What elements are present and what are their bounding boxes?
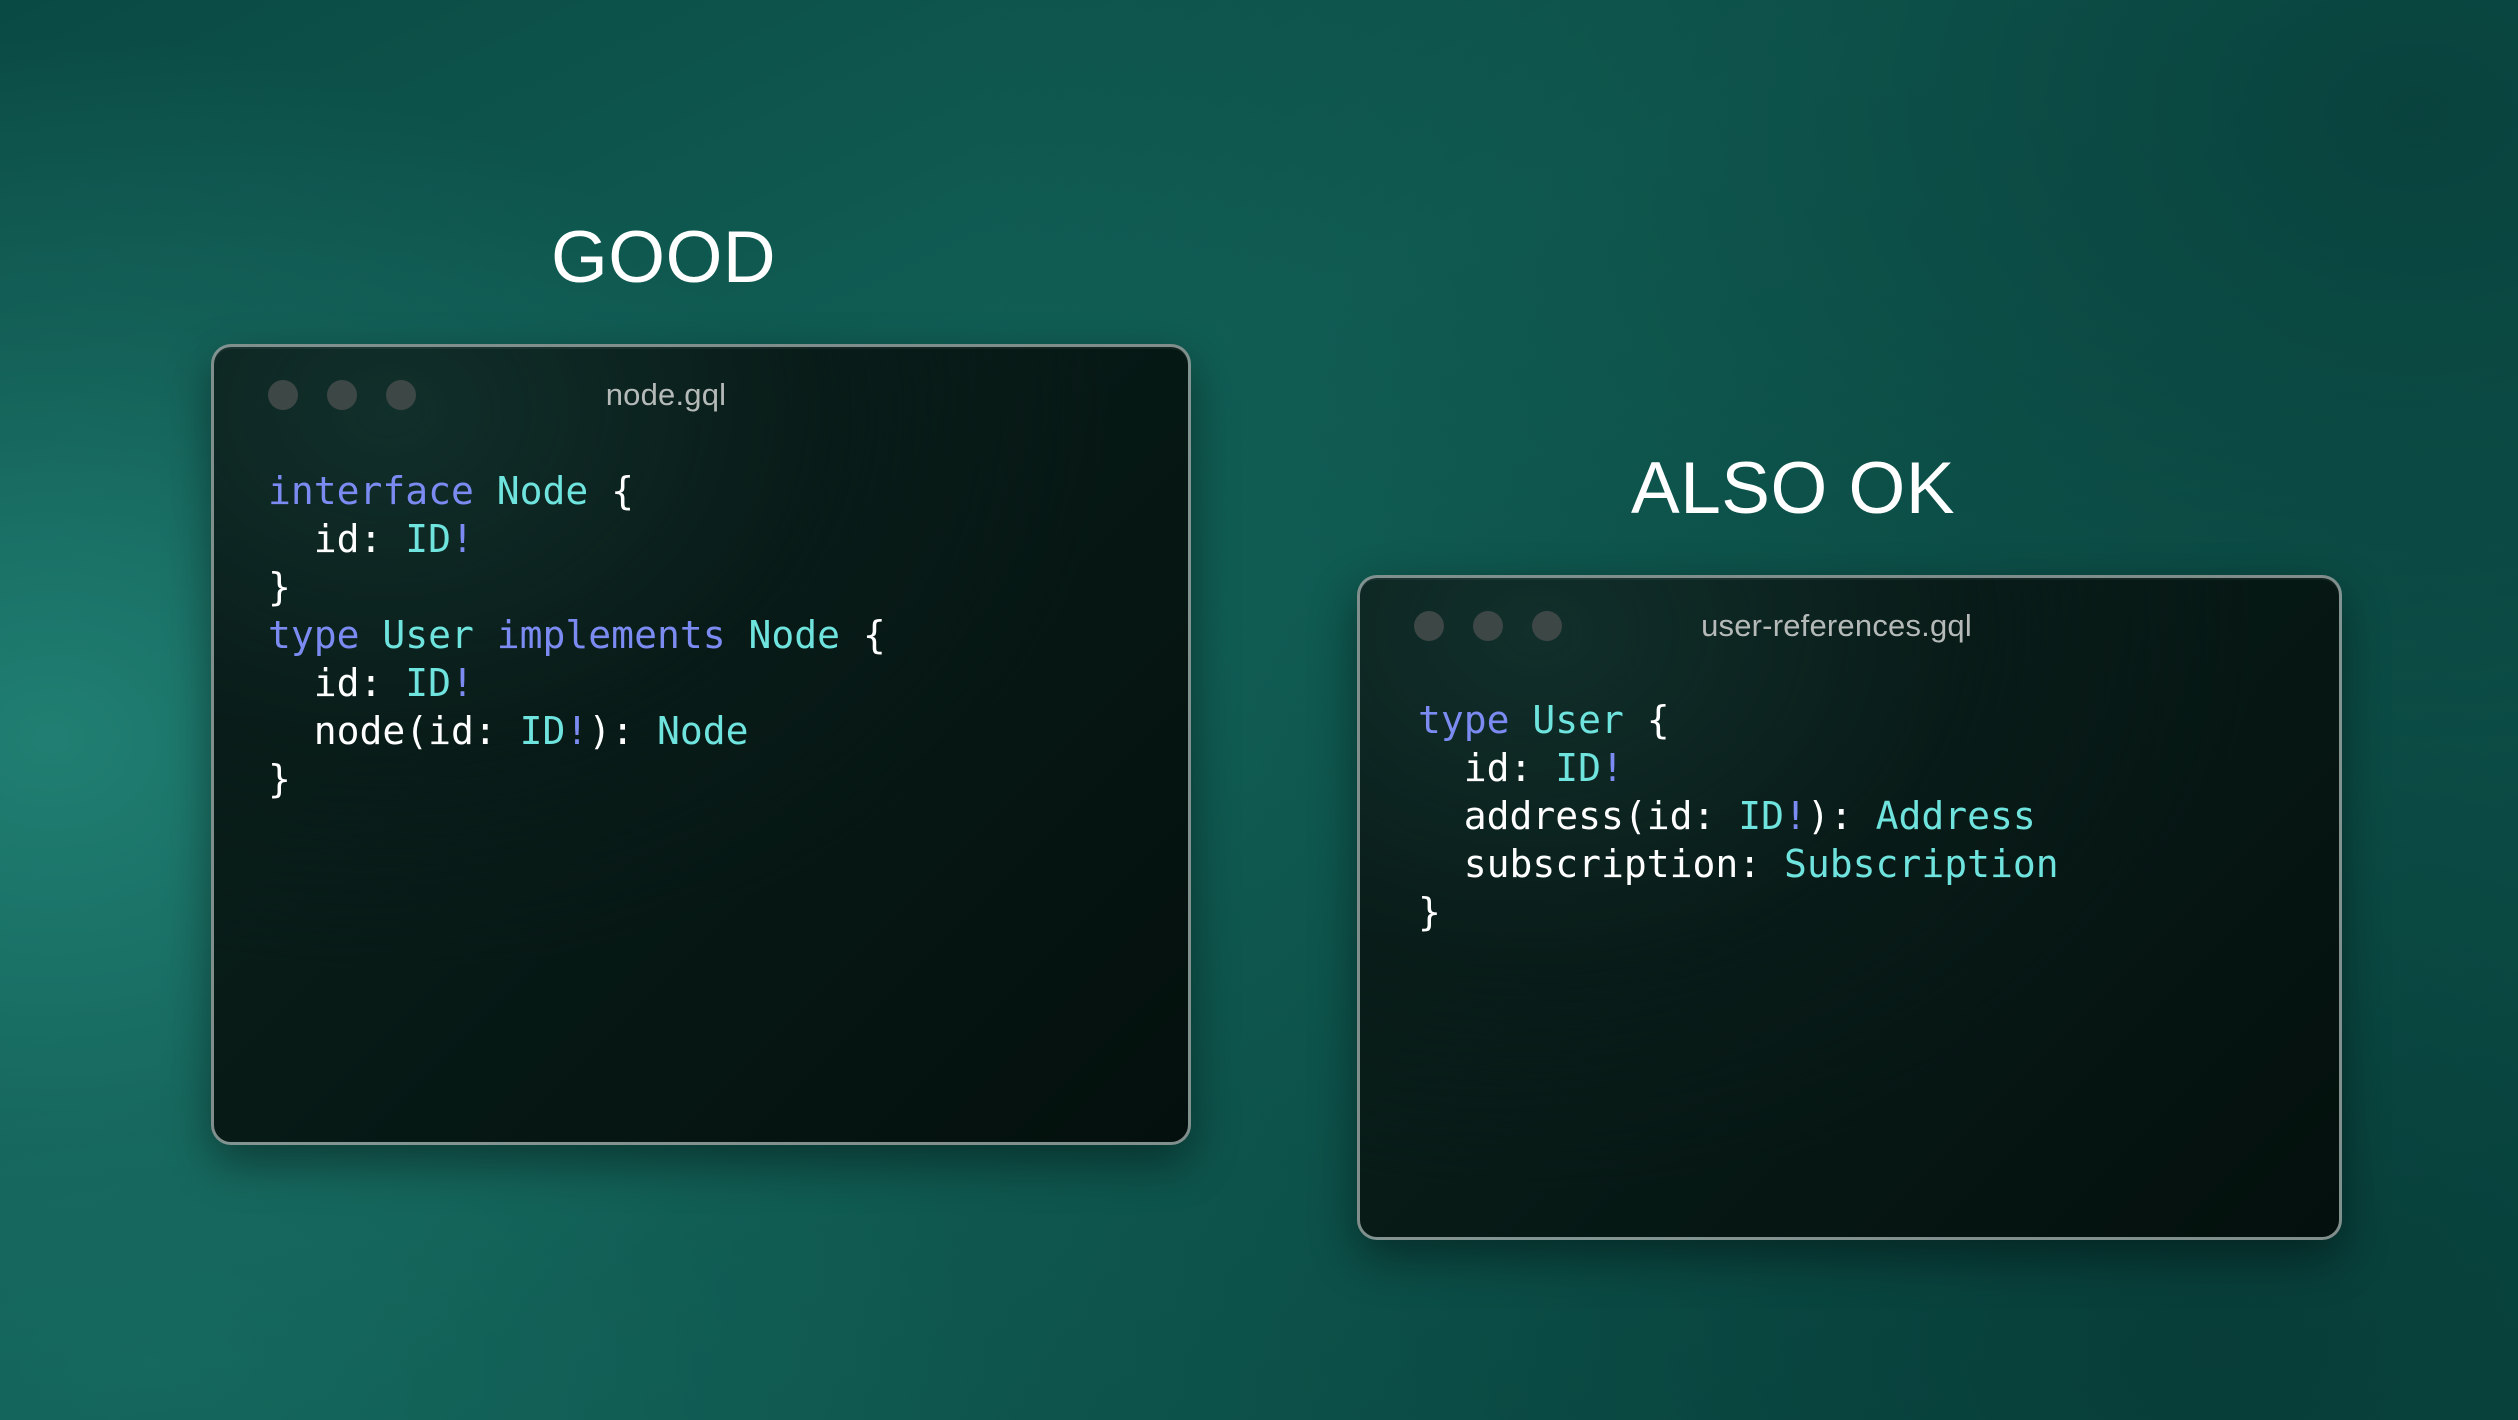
code-token: ID — [405, 517, 451, 561]
code-line: } — [268, 563, 1188, 611]
code-token: Node — [657, 709, 749, 753]
code-line: interface Node { — [268, 467, 1188, 515]
code-token: ): — [1807, 794, 1876, 838]
screenshot-canvas: GOOD ALSO OK node.gql interface Node { i… — [0, 0, 2518, 1420]
code-token: } — [268, 757, 291, 801]
code-token: ID — [520, 709, 566, 753]
caption-also-ok: ALSO OK — [1631, 452, 1955, 525]
code-token: User — [1532, 698, 1624, 742]
code-token: subscription: — [1418, 842, 1784, 886]
code-token: { — [1624, 698, 1670, 742]
code-token: { — [840, 613, 886, 657]
code-token: ID — [1738, 794, 1784, 838]
card-titlebar: user-references.gql — [1360, 578, 2339, 674]
close-dot-icon[interactable] — [268, 380, 298, 410]
caption-good: GOOD — [551, 221, 776, 294]
code-line: id: ID! — [1418, 744, 2339, 792]
code-token: ! — [1784, 794, 1807, 838]
code-line: type User implements Node { — [268, 611, 1188, 659]
code-token: ! — [451, 661, 474, 705]
window-controls — [1414, 611, 1562, 641]
code-token: ! — [451, 517, 474, 561]
code-line: } — [268, 755, 1188, 803]
code-block-good: interface Node { id: ID!}type User imple… — [214, 443, 1188, 803]
code-token: id: — [268, 517, 405, 561]
code-token — [474, 613, 497, 657]
code-line: subscription: Subscription — [1418, 840, 2339, 888]
code-token: type — [268, 613, 382, 657]
code-token: address(id: — [1418, 794, 1738, 838]
code-token: ! — [1601, 746, 1624, 790]
code-line: id: ID! — [268, 515, 1188, 563]
code-token: ! — [565, 709, 588, 753]
code-token: interface — [268, 469, 497, 513]
code-token: Node — [497, 469, 589, 513]
code-line: id: ID! — [268, 659, 1188, 707]
code-token: id: — [1418, 746, 1555, 790]
code-token: User — [382, 613, 474, 657]
code-line: address(id: ID!): Address — [1418, 792, 2339, 840]
code-token: ID — [405, 661, 451, 705]
code-block-also-ok: type User { id: ID! address(id: ID!): Ad… — [1360, 674, 2339, 936]
code-token: Node — [748, 613, 840, 657]
code-card-also-ok: user-references.gql type User { id: ID! … — [1357, 575, 2342, 1240]
code-token: type — [1418, 698, 1532, 742]
code-token: Subscription — [1784, 842, 2059, 886]
code-token: id: — [268, 661, 405, 705]
code-token: ): — [588, 709, 657, 753]
code-token: Address — [1876, 794, 2036, 838]
code-card-good: node.gql interface Node { id: ID!}type U… — [211, 344, 1191, 1145]
code-token: } — [1418, 890, 1441, 934]
code-token: implements — [497, 613, 749, 657]
window-controls — [268, 380, 416, 410]
minimize-dot-icon[interactable] — [1473, 611, 1503, 641]
maximize-dot-icon[interactable] — [1532, 611, 1562, 641]
code-token: } — [268, 565, 291, 609]
minimize-dot-icon[interactable] — [327, 380, 357, 410]
code-token: { — [588, 469, 634, 513]
code-line: } — [1418, 888, 2339, 936]
card-titlebar: node.gql — [214, 347, 1188, 443]
maximize-dot-icon[interactable] — [386, 380, 416, 410]
code-token: node(id: — [268, 709, 520, 753]
code-line: type User { — [1418, 696, 2339, 744]
code-token: ID — [1555, 746, 1601, 790]
close-dot-icon[interactable] — [1414, 611, 1444, 641]
code-line: node(id: ID!): Node — [268, 707, 1188, 755]
